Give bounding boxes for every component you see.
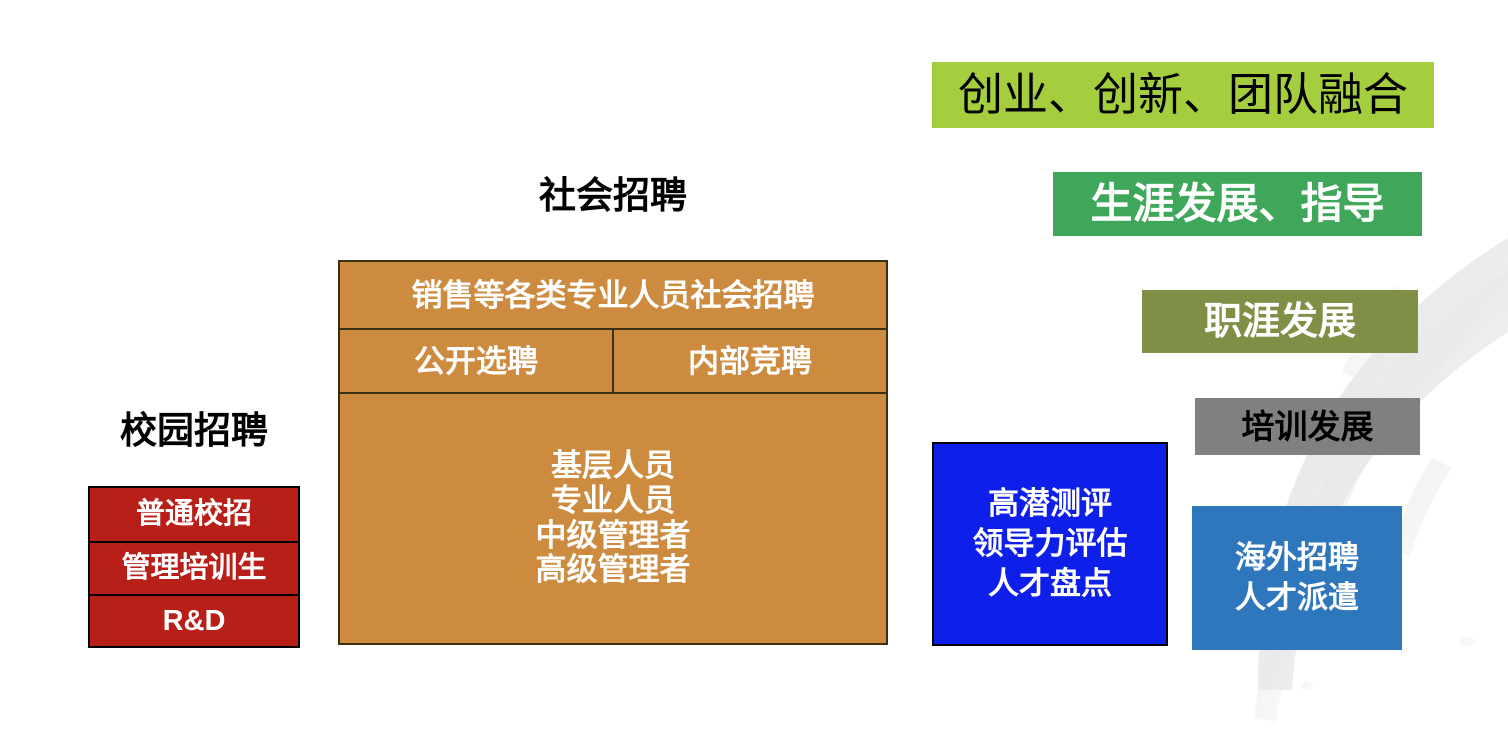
social-level-entry[interactable]: 基层人员	[551, 449, 675, 484]
social-table-levels-row: 基层人员 专业人员 中级管理者 高级管理者	[340, 392, 886, 643]
slide-canvas: 校园招聘 普通校招 管理培训生 R&D 社会招聘 销售等各类专业人员社会招聘 公…	[0, 0, 1508, 752]
campus-recruiting-group: 普通校招 管理培训生 R&D	[88, 486, 300, 648]
social-level-professional[interactable]: 专业人员	[551, 484, 675, 519]
assessment-box[interactable]: 高潜测评 领导力评估 人才盘点	[932, 442, 1168, 646]
banner-entrepreneurship[interactable]: 创业、创新、团队融合	[932, 62, 1434, 128]
banner-career-path[interactable]: 职涯发展	[1142, 290, 1418, 353]
overseas-box[interactable]: 海外招聘 人才派遣	[1192, 506, 1402, 650]
overseas-line-recruiting: 海外招聘	[1235, 538, 1359, 578]
overseas-line-dispatch: 人才派遣	[1235, 578, 1359, 618]
social-table-split-row: 公开选聘 内部竞聘	[340, 328, 886, 392]
social-levels-list: 基层人员 专业人员 中级管理者 高级管理者	[340, 394, 886, 643]
social-cell-internal-competition[interactable]: 内部竞聘	[612, 330, 886, 392]
banner-training-development[interactable]: 培训发展	[1195, 398, 1420, 455]
social-level-senior-manager[interactable]: 高级管理者	[536, 553, 691, 588]
campus-item-regular[interactable]: 普通校招	[90, 488, 298, 541]
social-level-middle-manager[interactable]: 中级管理者	[536, 519, 691, 554]
social-recruiting-table: 销售等各类专业人员社会招聘 公开选聘 内部竞聘 基层人员 专业人员 中级管理者 …	[338, 260, 888, 645]
banner-career-development-guidance[interactable]: 生涯发展、指导	[1053, 172, 1422, 236]
campus-section-title: 校园招聘	[88, 412, 300, 449]
social-table-header-row: 销售等各类专业人员社会招聘	[340, 262, 886, 328]
social-header-cell[interactable]: 销售等各类专业人员社会招聘	[340, 262, 886, 328]
assessment-line-leadership: 领导力评估	[973, 524, 1128, 564]
assessment-line-high-potential: 高潜测评	[988, 484, 1112, 524]
social-cell-open-selection[interactable]: 公开选聘	[340, 330, 612, 392]
campus-item-rnd[interactable]: R&D	[90, 594, 298, 646]
campus-item-management-trainee[interactable]: 管理培训生	[90, 541, 298, 594]
social-section-title: 社会招聘	[338, 177, 888, 214]
assessment-line-talent-review: 人才盘点	[988, 564, 1112, 604]
